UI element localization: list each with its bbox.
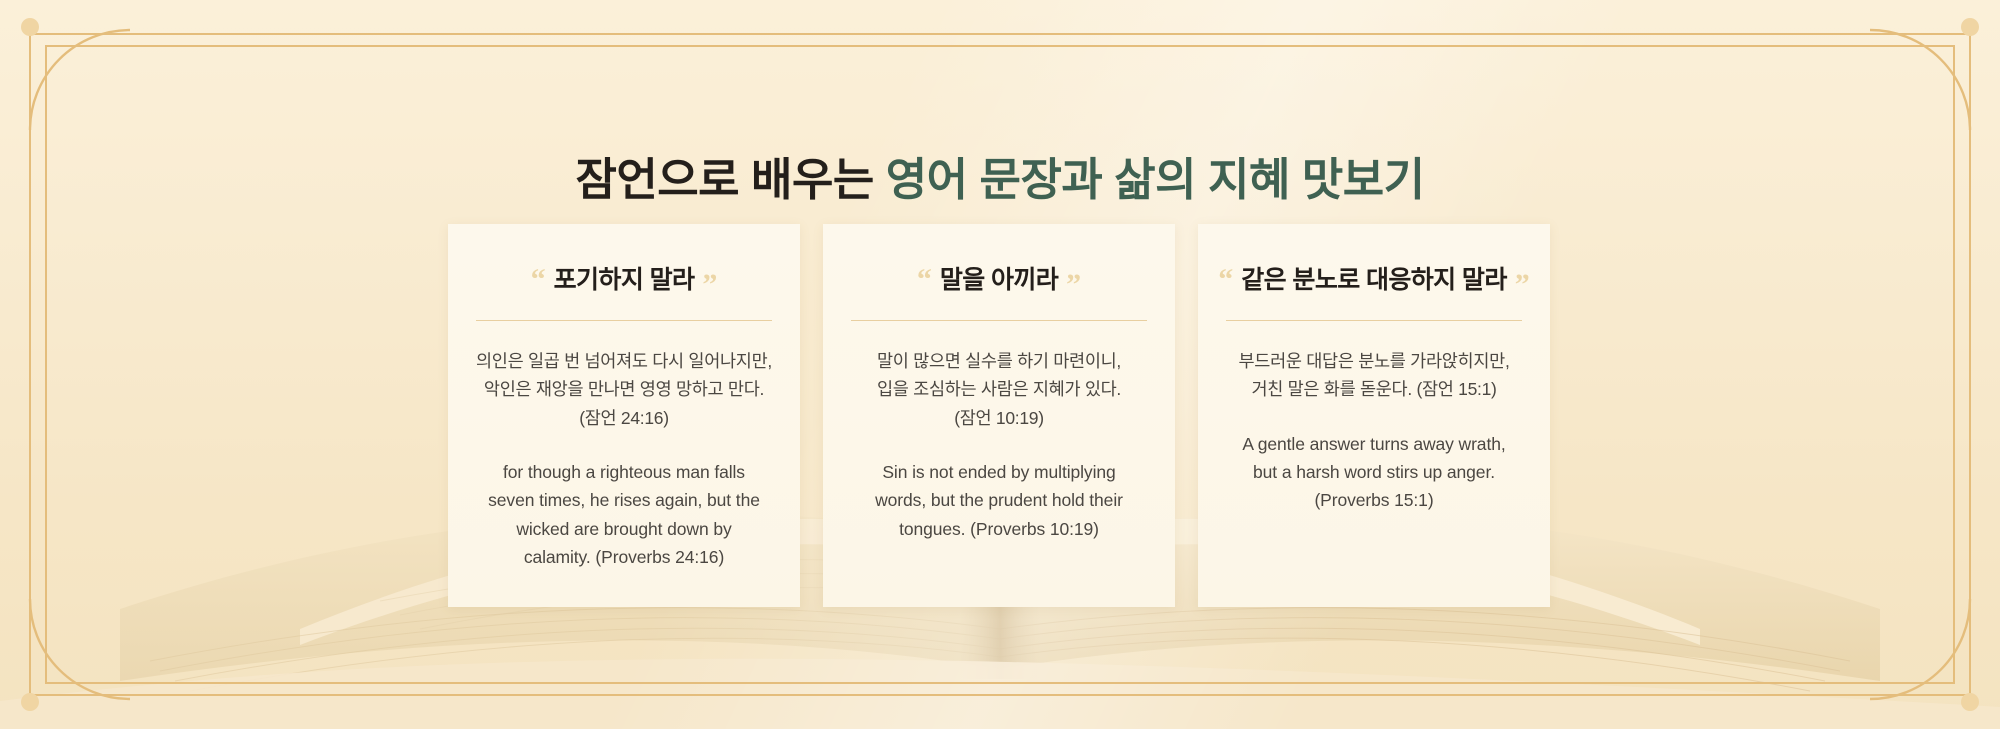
- card-english-text: for though a righteous man falls seven t…: [470, 458, 778, 571]
- quote-close-icon: ”: [1515, 270, 1530, 300]
- proverb-card[interactable]: “ 같은 분노로 대응하지 말라 ” 부드러운 대답은 분노를 가라앉히지만, …: [1198, 224, 1550, 607]
- card-korean-text: 말이 많으면 실수를 하기 마련이니, 입을 조심하는 사람은 지혜가 있다. …: [845, 347, 1153, 432]
- proverb-card[interactable]: “ 말을 아끼라 ” 말이 많으면 실수를 하기 마련이니, 입을 조심하는 사…: [823, 224, 1175, 607]
- card-english-text: A gentle answer turns away wrath, but a …: [1220, 430, 1528, 515]
- page-title-plain: 잠언으로 배우는: [575, 154, 885, 205]
- quote-open-icon: “: [917, 265, 932, 295]
- card-title-row: “ 포기하지 말라 ”: [470, 250, 778, 306]
- card-title-row: “ 같은 분노로 대응하지 말라 ”: [1220, 250, 1528, 306]
- slide-canvas: 잠언으로 배우는 영어 문장과 삶의 지혜 맛보기 “ 포기하지 말라 ” 의인…: [0, 0, 2000, 729]
- card-divider: [851, 320, 1147, 321]
- card-title: 말을 아끼라: [940, 260, 1058, 296]
- page-title-accent: 영어 문장과 삶의 지혜 맛보기: [886, 154, 1425, 205]
- card-title: 포기하지 말라: [554, 260, 695, 296]
- quote-open-icon: “: [531, 265, 546, 295]
- page-title: 잠언으로 배우는 영어 문장과 삶의 지혜 맛보기: [0, 143, 2000, 208]
- quote-close-icon: ”: [702, 270, 717, 300]
- card-title-row: “ 말을 아끼라 ”: [845, 250, 1153, 306]
- quote-close-icon: ”: [1066, 270, 1081, 300]
- card-divider: [1226, 320, 1522, 321]
- card-korean-text: 부드러운 대답은 분노를 가라앉히지만, 거친 말은 화를 돋운다. (잠언 1…: [1220, 347, 1528, 404]
- card-divider: [476, 320, 772, 321]
- proverb-card-list: “ 포기하지 말라 ” 의인은 일곱 번 넘어져도 다시 일어나지만, 악인은 …: [448, 224, 1550, 607]
- card-title: 같은 분노로 대응하지 말라: [1241, 260, 1506, 296]
- quote-open-icon: “: [1218, 265, 1233, 295]
- card-english-text: Sin is not ended by multiplying words, b…: [845, 458, 1153, 543]
- card-korean-text: 의인은 일곱 번 넘어져도 다시 일어나지만, 악인은 재앙을 만나면 영영 망…: [470, 347, 778, 432]
- proverb-card[interactable]: “ 포기하지 말라 ” 의인은 일곱 번 넘어져도 다시 일어나지만, 악인은 …: [448, 224, 800, 607]
